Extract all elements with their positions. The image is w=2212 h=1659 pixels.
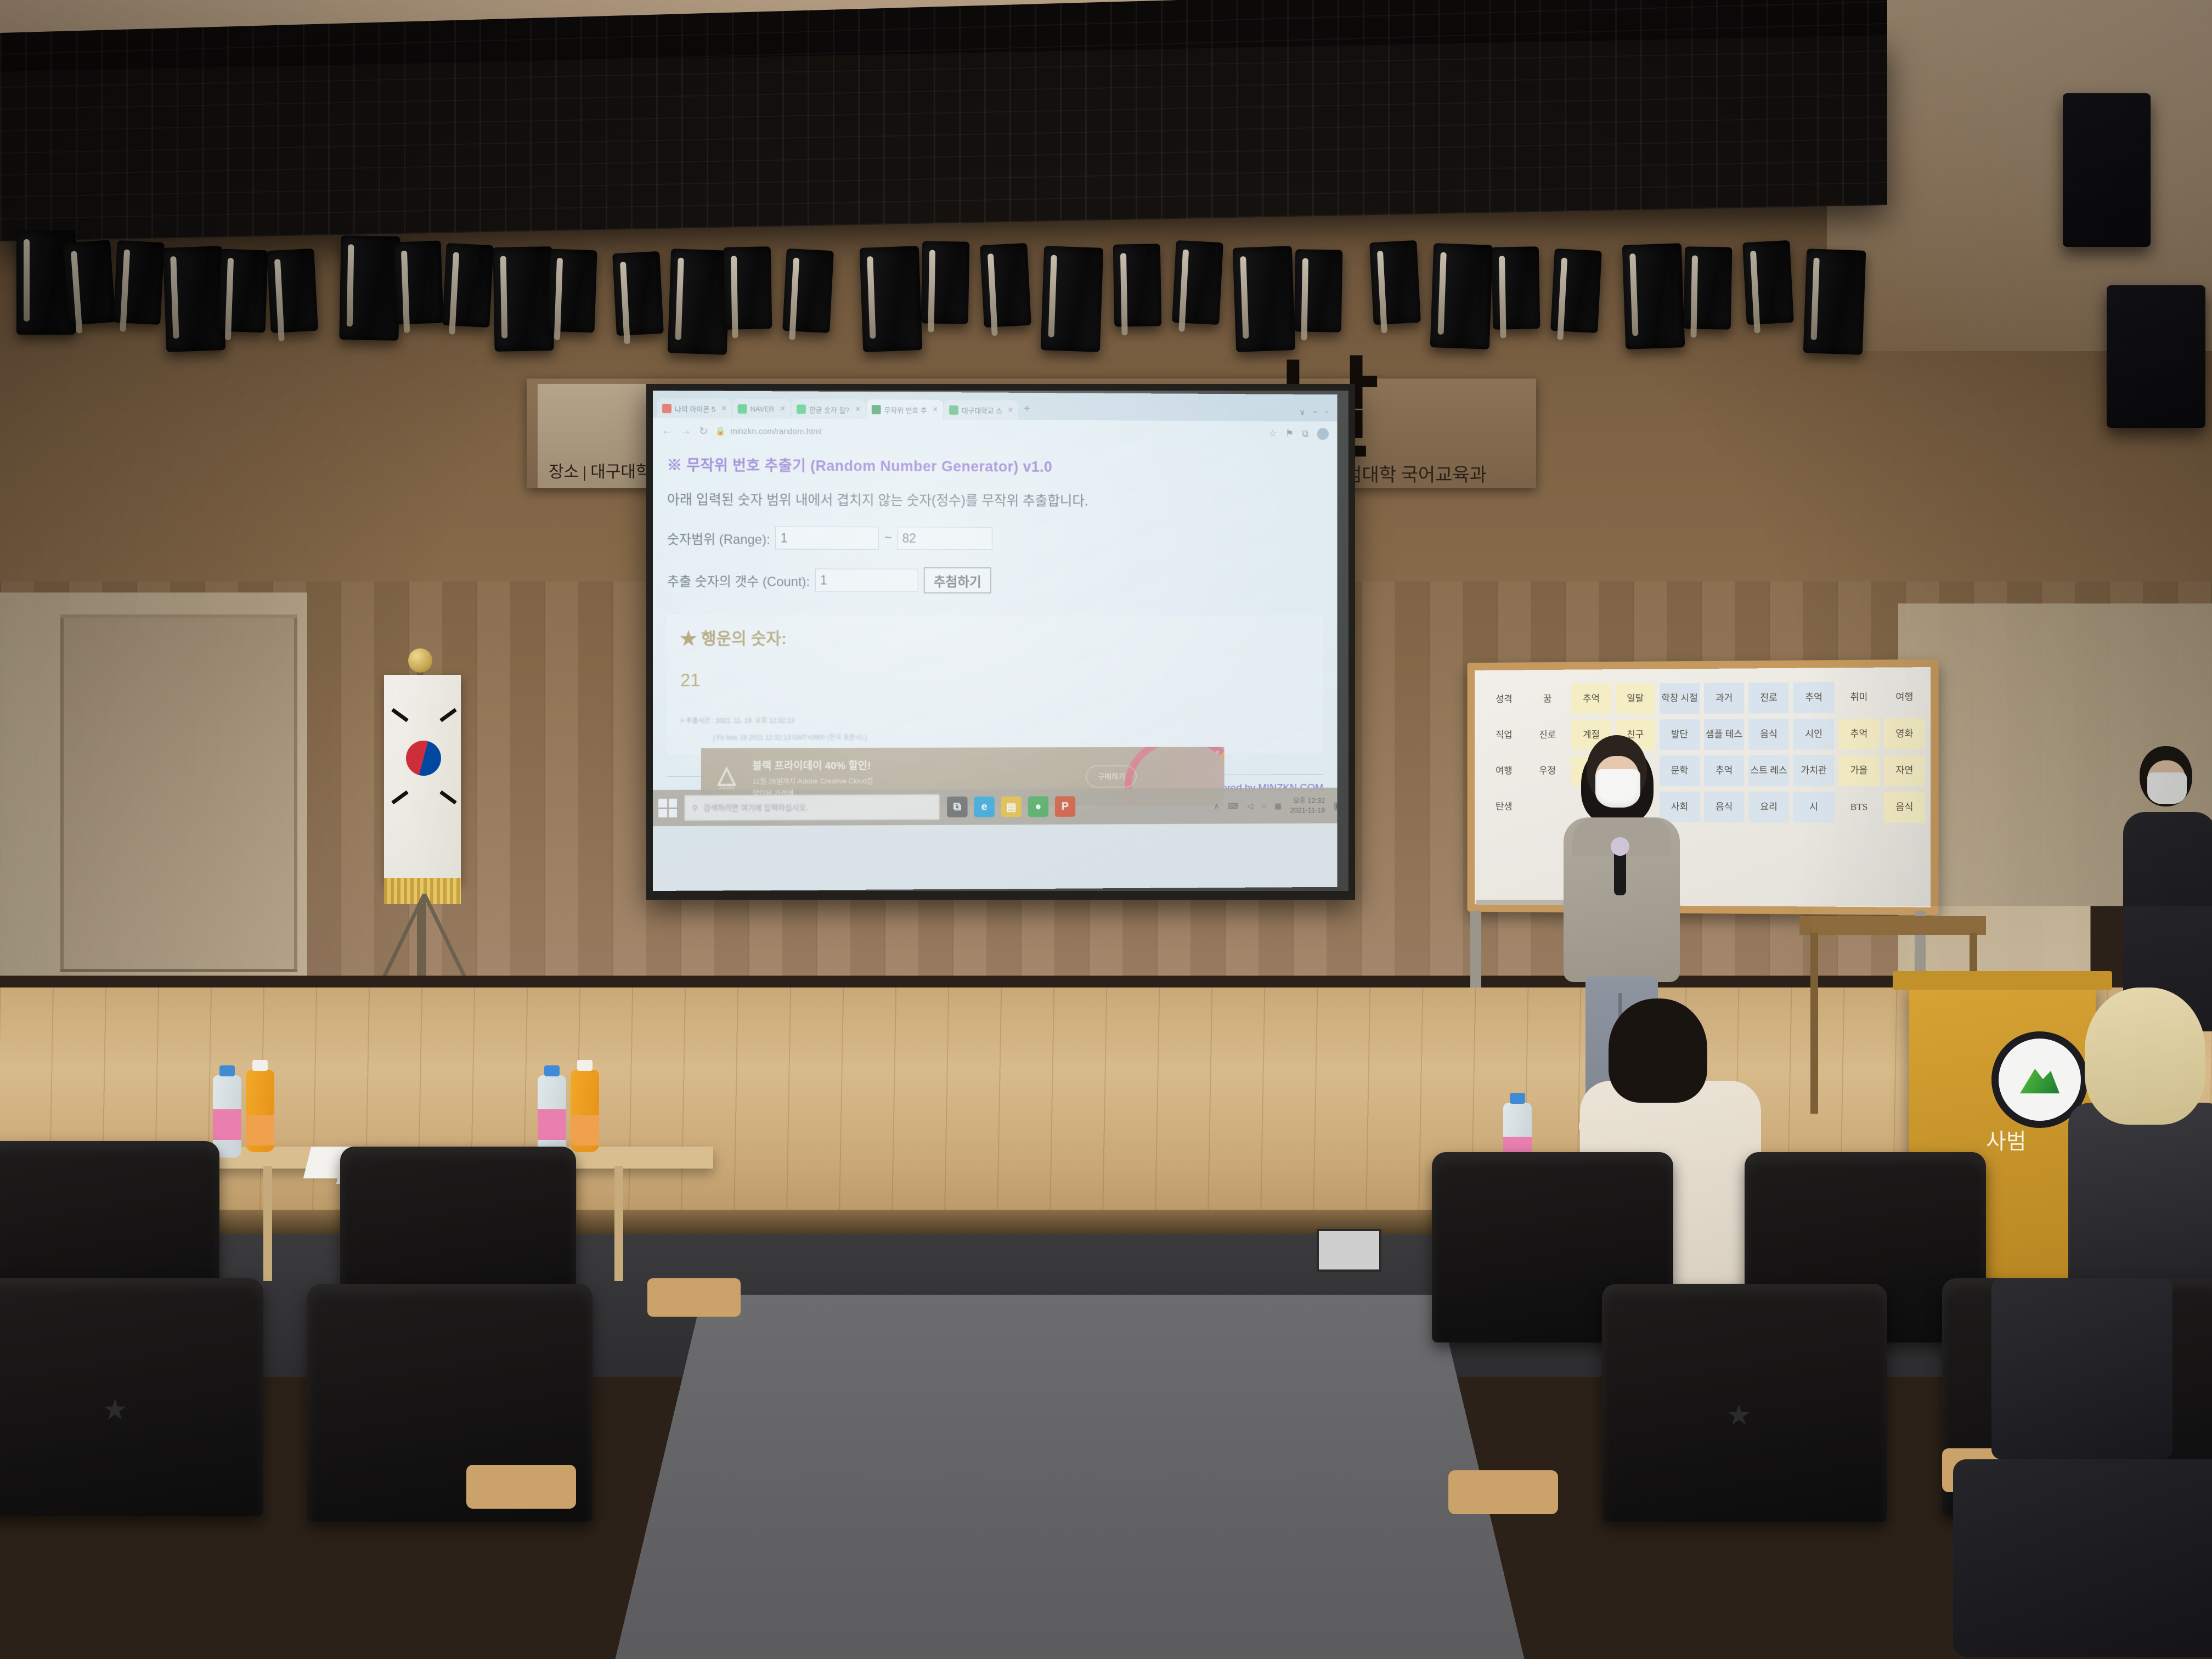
- sticky-note: 여행: [1884, 681, 1925, 713]
- stage-light: [782, 249, 834, 333]
- stage-light: [63, 240, 116, 325]
- foreground-person-coat: [2068, 1103, 2212, 1278]
- ad-subline-1: 11월 26일까지 Adobe Creative Cloud를: [753, 775, 873, 786]
- tab-label: NAVER: [751, 404, 775, 413]
- lectern-top: [1893, 971, 2112, 990]
- seat-armrest-1: [647, 1278, 741, 1317]
- stage-light: [218, 249, 268, 333]
- projection-screen-surface[interactable]: 나의 아이폰 5✕NAVER✕한글 숫자 될?✕무작위 번호 추✕대구대학교 스…: [653, 391, 1337, 891]
- speaker-right-upper: [2063, 93, 2151, 247]
- menu-icon[interactable]: ⧉: [1302, 428, 1308, 439]
- range-row: 숫자범위 (Range): 1 ~ 82: [667, 526, 1323, 551]
- adobe-triangle-icon: △: [718, 765, 736, 785]
- table-leg-right: [614, 1166, 623, 1281]
- tab-close-icon[interactable]: ✕: [933, 405, 939, 414]
- seat-armrest-2: [466, 1465, 576, 1509]
- tab-favicon-icon: [662, 404, 672, 413]
- stage-light: [668, 249, 731, 355]
- sticky-note: 샘플 테스: [1704, 719, 1744, 750]
- count-row: 추출 숫자의 갯수 (Count): 1 추첨하기: [667, 567, 1323, 594]
- forward-icon[interactable]: →: [680, 425, 691, 437]
- banner-venue-text: 장소 | 대구대학: [549, 458, 651, 482]
- water-bottle-2: [538, 1075, 566, 1158]
- standing-person-mask: [2147, 772, 2187, 804]
- browser-window[interactable]: 나의 아이폰 5✕NAVER✕한글 숫자 될?✕무작위 번호 추✕대구대학교 스…: [653, 391, 1337, 826]
- floor-monitor: [1317, 1229, 1381, 1272]
- taskbar-search-input[interactable]: ⚲ 검색하려면 여기에 입력하십시오.: [685, 794, 939, 821]
- ad-cta-button[interactable]: 구매하기: [1086, 765, 1137, 787]
- range-max-input[interactable]: 82: [898, 527, 993, 550]
- stage-light: [1684, 246, 1733, 329]
- stage-light: [1622, 243, 1685, 349]
- foreground-person-blonde: [2063, 988, 2212, 1273]
- random-number-generator-page: ※ 무작위 번호 추출기 (Random Number Generator) v…: [653, 443, 1337, 826]
- stage-light: [1113, 244, 1162, 326]
- tray-ime-icon[interactable]: ▦: [1274, 801, 1282, 810]
- chrome-icon[interactable]: ●: [1028, 796, 1048, 817]
- powerpoint-icon[interactable]: P: [1055, 796, 1075, 817]
- tab-close-icon[interactable]: ✕: [721, 404, 727, 413]
- tab-favicon-icon: [872, 405, 881, 414]
- speaker-right-lower: [2107, 285, 2205, 428]
- bottle-cap-1: [219, 1065, 235, 1076]
- browser-tab-0[interactable]: 나의 아이폰 5✕: [657, 398, 732, 419]
- browser-tab-3[interactable]: 무작위 번호 추✕: [867, 399, 943, 420]
- url-text: minzkn.com/random.html: [730, 426, 822, 436]
- ad-headline: 블랙 프라이데이 40% 할인!: [753, 757, 873, 772]
- profile-avatar[interactable]: [1317, 428, 1329, 440]
- bottle-label-1: [213, 1109, 241, 1140]
- side-table-leg-left: [1810, 933, 1818, 1114]
- sticky-note: 자연: [1884, 755, 1925, 786]
- stage-light: [442, 243, 494, 328]
- stage-light: [1492, 246, 1541, 329]
- sticky-note: 추억: [1793, 682, 1834, 713]
- range-label: 숫자범위 (Range):: [667, 528, 770, 548]
- minimize-icon[interactable]: ∨: [1300, 407, 1306, 417]
- sticky-note: 진로: [1748, 682, 1789, 714]
- seat-front-left-1[interactable]: ★: [0, 1278, 263, 1659]
- stage-light: [724, 246, 772, 329]
- tab-favicon-icon: [738, 404, 747, 413]
- stage-light: [1369, 240, 1421, 325]
- sticky-note: 과거: [1704, 682, 1744, 713]
- sticky-note: 요리: [1748, 792, 1789, 822]
- lighting-truss: [0, 35, 1887, 241]
- windows-start-icon[interactable]: [658, 799, 677, 817]
- flag-pole-finial: [408, 648, 432, 673]
- bottle-label-3: [538, 1109, 566, 1140]
- ad-close-icon[interactable]: ✕: [1215, 749, 1220, 756]
- result-panel: ★ 행운의 숫자: 21 > 추출시간 : 2021. 11. 19. 오후 1…: [667, 615, 1323, 754]
- sticky-note: 성격: [1485, 684, 1523, 715]
- bottle-cap-5: [1510, 1093, 1525, 1104]
- browser-tab-strip[interactable]: 나의 아이폰 5✕NAVER✕한글 숫자 될?✕무작위 번호 추✕대구대학교 스…: [653, 391, 1337, 421]
- stage-light: [980, 243, 1031, 328]
- sticky-note: 영화: [1884, 718, 1925, 749]
- microphone-head-icon: [1611, 837, 1629, 856]
- bottle-label-2: [246, 1115, 274, 1145]
- count-input[interactable]: 1: [815, 568, 918, 591]
- extensions-icon[interactable]: ⚑: [1285, 428, 1294, 439]
- result-timestamp-gmt: [ Fri Nov 19 2021 12:32:13 GMT+0900 (한국 …: [713, 731, 1311, 742]
- result-timestamp: > 추출시간 : 2021. 11. 19. 오후 12:32:13: [680, 715, 1311, 725]
- stage-light: [163, 246, 226, 352]
- tab-label: 나의 아이폰 5: [675, 403, 715, 414]
- back-icon[interactable]: ←: [662, 425, 673, 437]
- presenter-face-mask: [1595, 769, 1640, 808]
- stage-light: [1550, 249, 1602, 333]
- tab-favicon-icon: [797, 404, 806, 414]
- maximize-icon[interactable]: −: [1313, 408, 1317, 417]
- task-view-icon[interactable]: ⧉: [947, 797, 967, 817]
- sticky-note: 스트 레스: [1748, 755, 1789, 786]
- ad-subline-2: 할인된 가격에: [753, 787, 873, 798]
- page-title: ※ 무작위 번호 추출기 (Random Number Generator) v…: [667, 453, 1323, 477]
- window-controls[interactable]: ∨ − ▫: [1300, 407, 1333, 421]
- sticky-note: 취미: [1838, 682, 1880, 713]
- tab-label: 대구대학교 스: [962, 405, 1002, 415]
- sticky-note: BTS: [1838, 792, 1880, 823]
- tab-close-icon[interactable]: ✕: [1008, 406, 1014, 415]
- stage-light: [547, 249, 597, 333]
- browser-tab-4[interactable]: 대구대학교 스✕: [944, 400, 1018, 420]
- aisle-carpet: [589, 1295, 1550, 1659]
- bottle-cap-3: [544, 1065, 560, 1076]
- sticky-note: 직업: [1485, 720, 1523, 751]
- korean-flag: [384, 675, 461, 883]
- range-separator: ~: [884, 531, 892, 546]
- bookmark-star-icon[interactable]: ☆: [1269, 428, 1277, 439]
- browser-toolbar-actions[interactable]: ☆ ⚑ ⧉: [1269, 428, 1329, 440]
- browser-tab-2[interactable]: 한글 숫자 될?✕: [792, 399, 866, 419]
- internet-explorer-icon[interactable]: e: [974, 797, 994, 817]
- bag-on-seat: [1991, 1278, 2172, 1459]
- seat-armrest-3: [1300, 1317, 1383, 1350]
- juice-bottle-2: [571, 1070, 599, 1152]
- tab-close-icon[interactable]: ✕: [780, 404, 786, 413]
- new-tab-button[interactable]: +: [1024, 403, 1030, 416]
- reload-icon[interactable]: ↻: [699, 424, 708, 438]
- result-heading: ★ 행운의 숫자:: [680, 625, 1311, 649]
- tab-close-icon[interactable]: ✕: [855, 405, 861, 414]
- stage-light: [1233, 246, 1296, 352]
- stage-light: [921, 241, 970, 324]
- tab-label: 무작위 번호 추: [884, 404, 927, 415]
- stage-light: [493, 246, 554, 352]
- tray-network-icon[interactable]: ○: [1261, 802, 1266, 810]
- left-wall-recess: [60, 614, 297, 972]
- stage-light: [113, 240, 165, 325]
- browser-tab-1[interactable]: NAVER✕: [733, 399, 791, 419]
- auditorium-photo-scene: 장소 | 대구대학 날 사범대학 국어교육과 나의 아이폰 5✕NAVER✕한글…: [0, 0, 2212, 1659]
- lock-icon: 🔒: [716, 426, 726, 436]
- sticky-note: 시: [1793, 792, 1834, 822]
- sticky-note: 음식: [1748, 719, 1789, 749]
- draw-button[interactable]: 추첨하기: [924, 567, 991, 594]
- notification-center-icon[interactable]: ▣: [1334, 800, 1338, 811]
- sticky-note: 음식: [1884, 792, 1925, 823]
- lectern-label: 사범: [1986, 1124, 2027, 1155]
- bottle-cap-2: [252, 1060, 268, 1071]
- side-table: [1799, 916, 1986, 935]
- search-placeholder: 검색하려면 여기에 입력하십시오.: [703, 802, 808, 814]
- sticky-note: 탄생: [1485, 792, 1523, 822]
- bottle-cap-4: [577, 1060, 592, 1071]
- stage-light: [1803, 249, 1866, 355]
- close-icon[interactable]: ▫: [1325, 408, 1328, 417]
- stage-light: [339, 235, 400, 341]
- tray-overflow-icon[interactable]: ∧: [1214, 802, 1220, 811]
- coat-on-seat: [1953, 1459, 2212, 1657]
- emblem-mountain-icon: [2020, 1066, 2059, 1093]
- sticky-note: 추억: [1838, 719, 1880, 750]
- whiteboard-surface: 성격꿈추억일탈학창 시절과거진로추억취미여행직업진로계절친구발단샘플 테스음식시…: [1475, 667, 1931, 907]
- sticky-note: 꿈: [1528, 684, 1567, 715]
- sticky-note: 음식: [1704, 792, 1744, 822]
- page-description: 아래 입력된 숫자 범위 내에서 겹치지 않는 숫자(정수)를 무작위 추출합니…: [667, 489, 1323, 511]
- result-value: 21: [680, 669, 1311, 691]
- stage-light: [1041, 246, 1104, 352]
- juice-bottle-1: [246, 1070, 274, 1152]
- sticky-note: 학창 시절: [1660, 683, 1700, 714]
- seat-front-right-1[interactable]: ★: [1602, 1284, 1887, 1659]
- tab-label: 한글 숫자 될?: [809, 404, 850, 414]
- clock-date: 2021-11-19: [1290, 805, 1325, 815]
- stage-light: [1742, 240, 1794, 325]
- sticky-note: 시인: [1793, 719, 1834, 750]
- seat-armrest-4: [1448, 1470, 1558, 1514]
- sticky-note: 여행: [1485, 756, 1523, 786]
- taskbar-clock[interactable]: 오후 12:32 2021-11-19: [1290, 796, 1325, 815]
- sticky-note: 가을: [1838, 755, 1880, 786]
- sticky-note: 추억: [1704, 755, 1744, 786]
- table-leg-left: [263, 1166, 272, 1281]
- file-explorer-icon[interactable]: ▤: [1001, 797, 1022, 817]
- tray-keyboard-icon[interactable]: ⌨: [1228, 801, 1239, 810]
- tab-favicon-icon: [949, 405, 958, 414]
- stage-light: [612, 251, 664, 336]
- clock-time: 오후 12:32: [1293, 796, 1325, 805]
- url-input[interactable]: 🔒 minzkn.com/random.html: [716, 426, 1262, 439]
- bottle-label-4: [571, 1115, 599, 1145]
- seated-person-hair: [1609, 998, 1707, 1103]
- search-icon: ⚲: [692, 803, 698, 812]
- sticky-note: 일탈: [1616, 684, 1656, 714]
- stage-light: [393, 241, 443, 325]
- sticky-note: 추억: [1572, 684, 1611, 714]
- tray-volume-icon[interactable]: ◁: [1247, 801, 1252, 810]
- stage-light: [1430, 243, 1493, 349]
- browser-address-bar[interactable]: ← → ↻ 🔒 minzkn.com/random.html ☆ ⚑ ⧉: [653, 418, 1337, 447]
- count-label: 추출 숫자의 갯수 (Count):: [667, 571, 810, 590]
- stage-light: [267, 249, 318, 333]
- sticky-note: 가치관: [1793, 755, 1834, 786]
- stage-light: [1172, 240, 1223, 325]
- foreground-person-hair: [2085, 988, 2205, 1125]
- range-min-input[interactable]: 1: [776, 527, 879, 550]
- stage-light: [860, 246, 923, 352]
- system-tray[interactable]: ∧ ⌨ ◁ ○ ▦ 오후 12:32 2021-11-19 ▣: [1214, 796, 1338, 815]
- stage-light: [1294, 249, 1343, 332]
